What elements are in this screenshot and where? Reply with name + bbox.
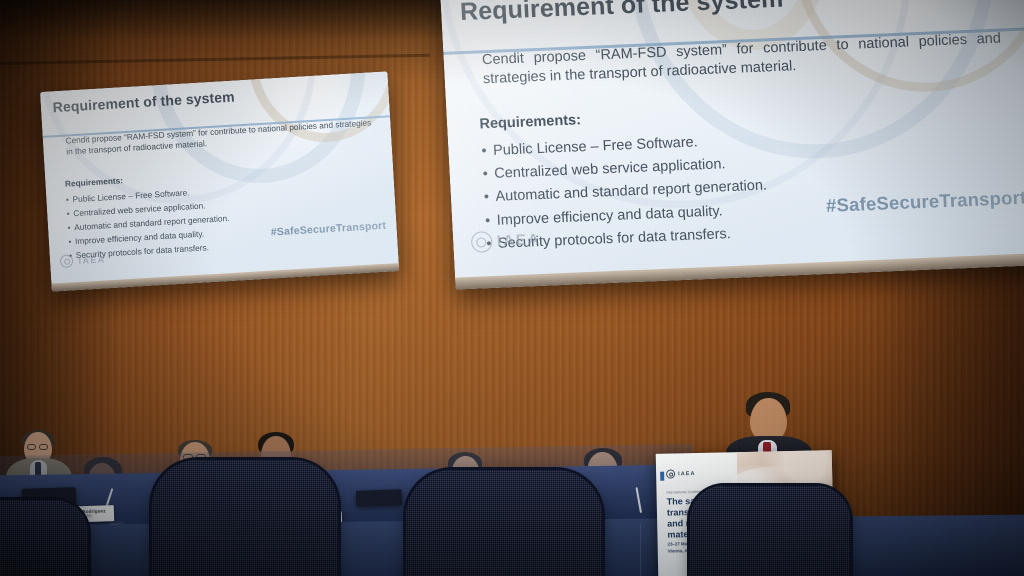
iaea-atom-icon [470,231,492,253]
iaea-atom-icon [60,254,74,268]
slide-title: Requirement of the system [52,88,235,115]
slide-bullet-list: Public License – Free Software. Centrali… [66,184,232,263]
projection-screen-left: Requirement of the system Cendit propose… [40,71,399,291]
iaea-wordmark: IAEA [678,471,695,477]
iaea-wordmark: IAEA [496,231,541,250]
projection-screen-right: Requirement of the system Cendit propose… [440,0,1024,290]
iaea-logo: IAEA [666,469,696,479]
conference-chair [152,460,338,576]
conference-room-photo: Requirement of the system Cendit propose… [0,0,1024,576]
slide-left: Requirement of the system Cendit propose… [40,71,399,291]
slide-requirements-label: Requirements: [65,175,124,188]
laptop [356,489,403,507]
slide-title: Requirement of the system [459,0,784,27]
slide-right: Requirement of the system Cendit propose… [440,0,1024,290]
conference-chair [690,486,850,576]
conference-chair [406,470,602,576]
iaea-logo: IAEA [60,252,106,268]
desk-seam [640,524,641,576]
conference-chair [0,500,88,576]
slide-hashtag: #SafeSecureTransport [270,220,386,239]
nameplate-org: CRN [84,514,91,518]
iaea-wordmark: IAEA [78,254,106,266]
slide-requirements-label: Requirements: [479,112,581,132]
banner-accent-tab [660,472,664,481]
slide-hashtag: #SafeSecureTransport [825,186,1024,216]
iaea-atom-icon [666,469,675,478]
slide-paragraph: Cendit propose “RAM-FSD system” for cont… [65,117,372,157]
iaea-logo: IAEA [470,229,541,253]
